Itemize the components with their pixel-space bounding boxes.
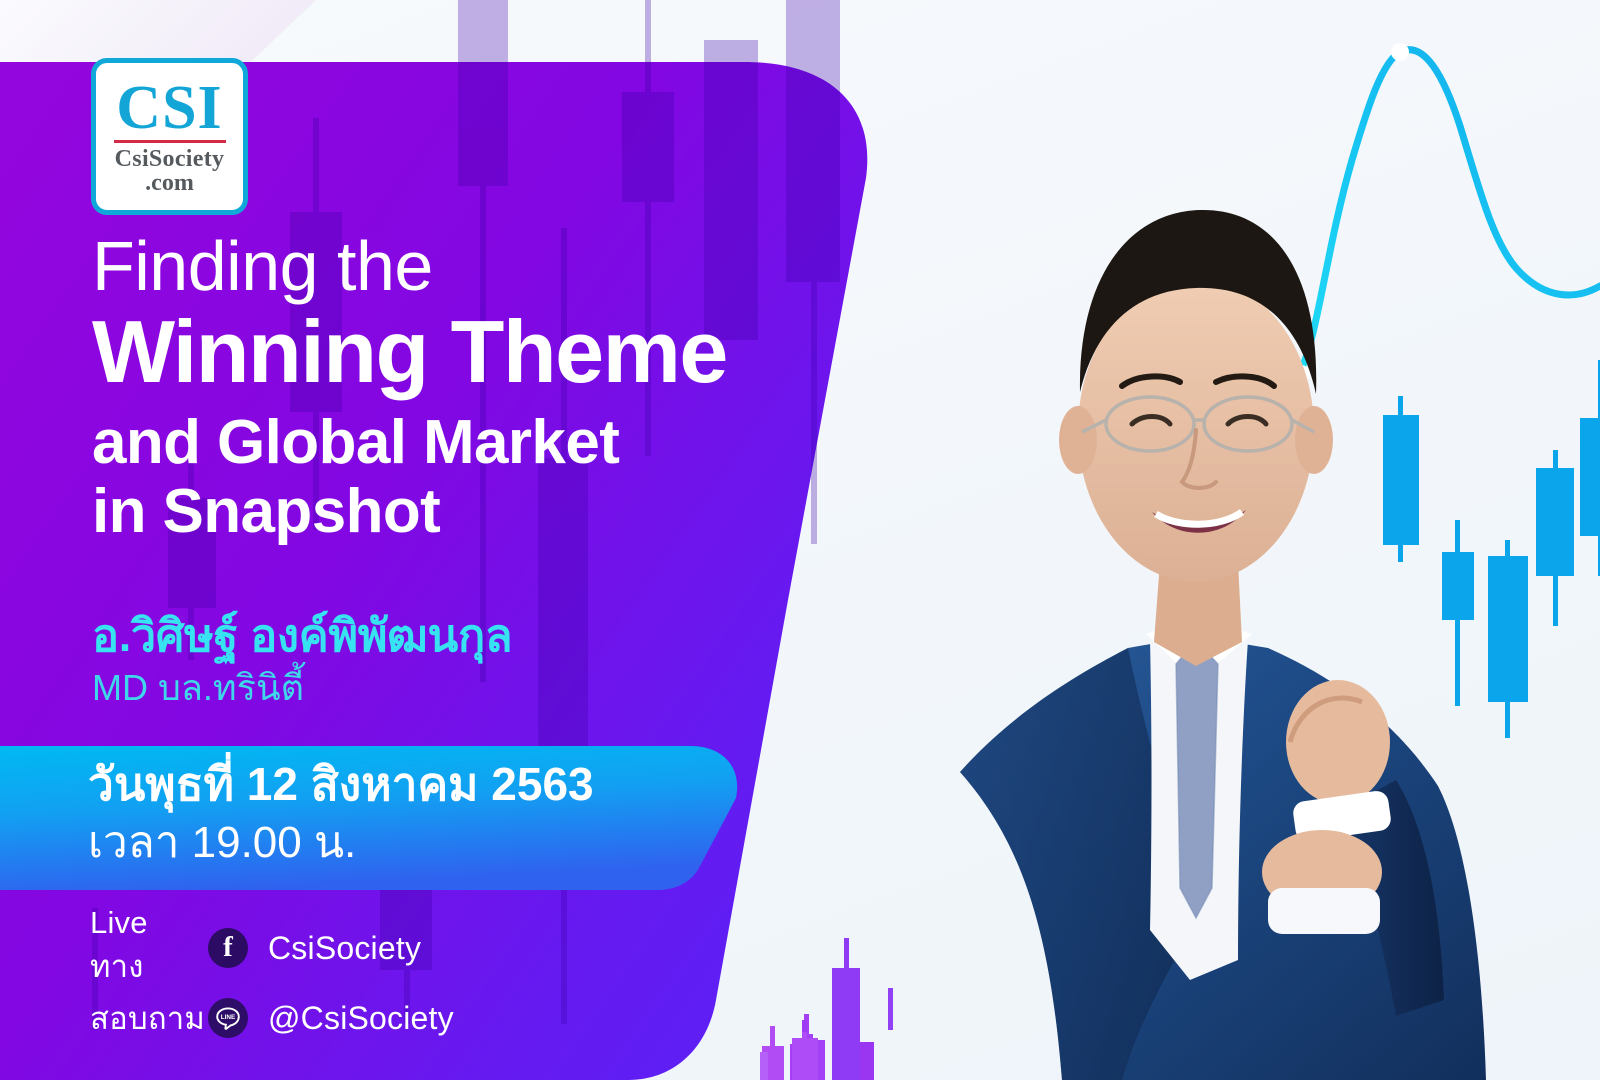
social-label-contact: สอบถาม: [90, 993, 208, 1043]
line-icon[interactable]: LINE: [208, 998, 248, 1038]
speaker-block: อ.วิศิษฐ์ องค์พิพัฒนกุล MD บล.ทรินิตี้: [92, 610, 512, 709]
facebook-icon[interactable]: f: [208, 928, 248, 968]
csi-logo[interactable]: CSI CsiSociety .com: [91, 58, 248, 215]
svg-text:LINE: LINE: [221, 1014, 236, 1021]
social-row-line: สอบถาม LINE @CsiSociety: [90, 990, 454, 1046]
headline-line-2: Winning Theme: [92, 306, 872, 398]
line-handle[interactable]: @CsiSociety: [268, 1000, 454, 1037]
speaker-name: อ.วิศิษฐ์ องค์พิพัฒนกุล: [92, 610, 512, 662]
logo-csi-text: CSI: [116, 80, 222, 137]
logo-name-text: CsiSociety: [115, 147, 225, 171]
headline-block: Finding the Winning Theme and Global Mar…: [92, 230, 872, 546]
social-row-facebook: Live ทาง f CsiSociety: [90, 920, 454, 976]
event-datetime-block: วันพุธที่ 12 สิงหาคม 2563 เวลา 19.00 น.: [88, 755, 594, 871]
logo-domain-text: .com: [145, 171, 194, 196]
poster-canvas: CSI CsiSociety .com Finding the Winning …: [0, 0, 1600, 1080]
event-date: วันพุธที่ 12 สิงหาคม 2563: [88, 755, 594, 814]
headline-line-1: Finding the: [92, 230, 872, 302]
speaker-role: MD บล.ทรินิตี้: [92, 666, 512, 709]
social-label-live: Live ทาง: [90, 905, 208, 991]
headline-line-3: and Global Market: [92, 408, 872, 477]
event-time: เวลา 19.00 น.: [88, 814, 594, 871]
line-bubble-glyph: LINE: [213, 1003, 243, 1033]
facebook-handle[interactable]: CsiSociety: [268, 930, 421, 967]
headline-line-4: in Snapshot: [92, 477, 872, 546]
social-block: Live ทาง f CsiSociety สอบถาม LINE @CsiSo…: [90, 920, 454, 1060]
facebook-glyph: f: [223, 933, 233, 962]
logo-divider: [114, 140, 226, 143]
